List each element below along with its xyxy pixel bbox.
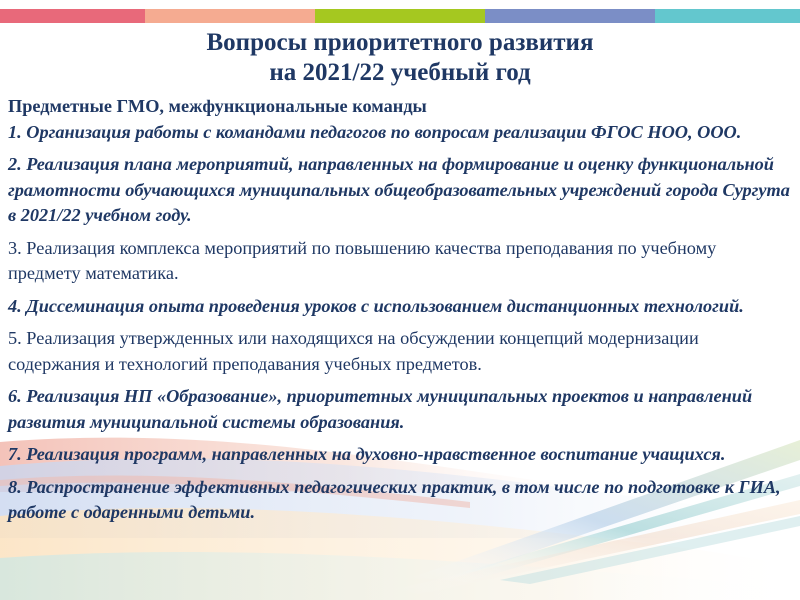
- color-bar-segment-periwinkle: [485, 9, 655, 23]
- color-bar-segment-light-salmon: [145, 9, 315, 23]
- color-bar-segment-teal-cyan: [655, 9, 800, 23]
- body-item-4: 4. Диссеминация опыта проведения уроков …: [8, 294, 792, 320]
- slide-title: Вопросы приоритетного развития на 2021/2…: [0, 28, 800, 88]
- body-item-3: 3. Реализация комплекса мероприятий по п…: [8, 236, 792, 287]
- slide-title-line-1: Вопросы приоритетного развития: [0, 28, 800, 58]
- slide-canvas: Вопросы приоритетного развития на 2021/2…: [0, 0, 800, 600]
- body-item-8: 8. Распространение эффективных педагогич…: [8, 475, 792, 526]
- body-item-6: 6. Реализация НП «Образование», приорите…: [8, 384, 792, 435]
- color-bar-segment-lime-green: [315, 9, 485, 23]
- body-item-1: 1. Организация работы с командами педаго…: [8, 120, 792, 146]
- body-item-2: 2. Реализация плана мероприятий, направл…: [8, 152, 792, 229]
- body-item-7: 7. Реализация программ, направленных на …: [8, 442, 792, 468]
- body-item-5: 5. Реализация утвержденных или находящих…: [8, 326, 792, 377]
- slide-title-line-2: на 2021/22 учебный год: [0, 58, 800, 88]
- body-heading: Предметные ГМО, межфункциональные команд…: [8, 94, 792, 120]
- top-color-bar: [0, 9, 800, 23]
- slide-body: Предметные ГМО, межфункциональные команд…: [8, 94, 792, 528]
- color-bar-segment-coral-red: [0, 9, 145, 23]
